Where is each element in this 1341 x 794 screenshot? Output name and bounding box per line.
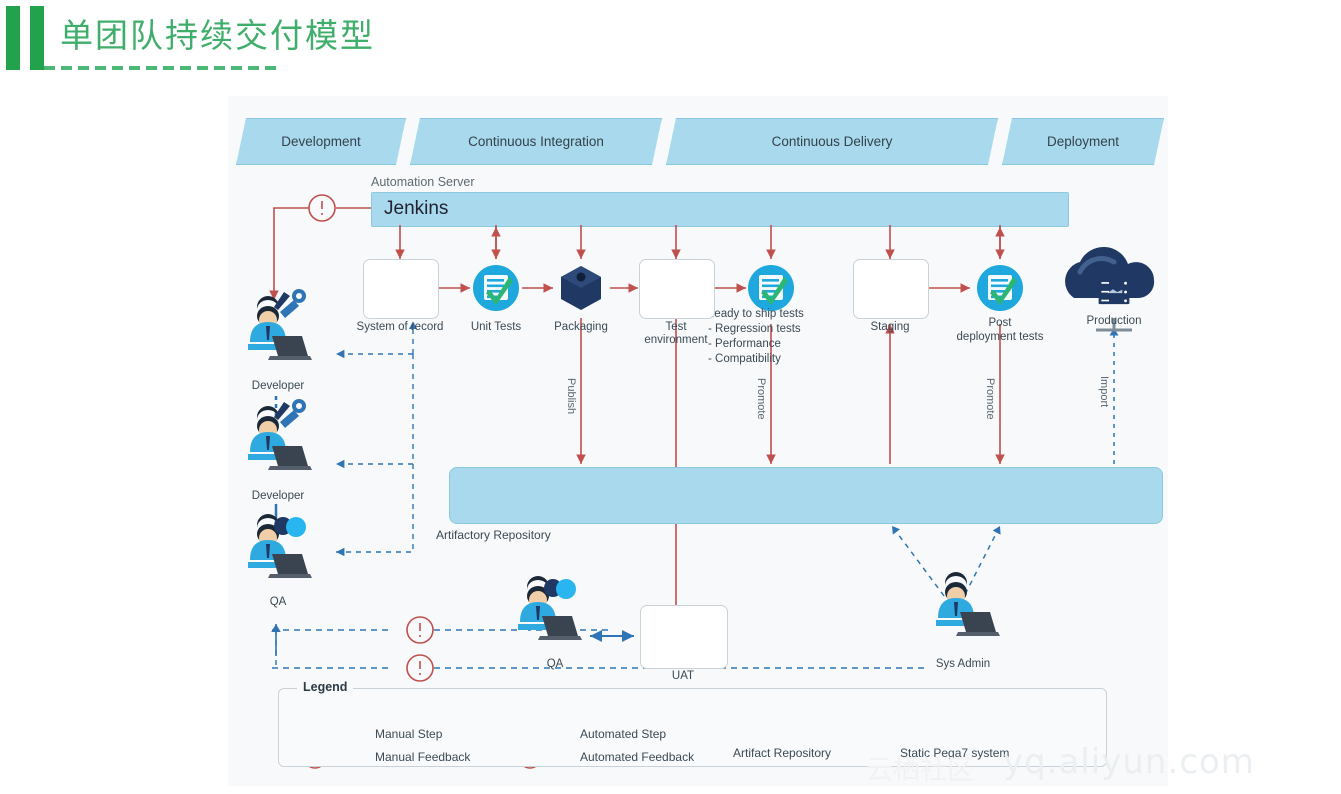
label-import: Import [1098, 376, 1110, 407]
label-performance: - Performance [708, 338, 838, 351]
label-packaging: Packaging [541, 321, 621, 334]
jenkins-label: Jenkins [384, 198, 448, 220]
pipeline-diagram: Development Continuous Integration Conti… [228, 96, 1168, 786]
label-qa-bottom: QA [520, 658, 590, 670]
server-frame-staging [853, 259, 929, 319]
phase-continuous-integration: Continuous Integration [410, 118, 662, 165]
label-publish: Publish [565, 378, 577, 414]
label-promote-2: Promote [984, 378, 996, 420]
watermark-cn: 云栖社区 [866, 748, 974, 787]
legend-label-manual-feedback: Manual Feedback [375, 750, 470, 764]
label-test-environment-line1: Test [636, 321, 716, 334]
artifactory-repository-bar [449, 467, 1163, 524]
label-staging: Staging [850, 321, 930, 334]
label-regression-tests: - Regression tests [708, 323, 838, 336]
phase-deployment: Deployment [1002, 118, 1164, 165]
phase-label: Deployment [1047, 134, 1119, 149]
label-uat: UAT [640, 670, 726, 682]
server-frame-test-environment [639, 259, 715, 319]
label-developer-2: Developer [238, 490, 318, 502]
phase-label: Continuous Delivery [772, 134, 893, 149]
legend-label-manual-step: Manual Step [375, 727, 442, 741]
automation-server-caption: Automation Server [371, 175, 475, 189]
phase-label: Development [281, 134, 361, 149]
label-ready-to-ship-tests: Ready to ship tests [706, 308, 836, 321]
legend-label-automated-step: Automated Step [580, 727, 666, 741]
label-system-of-record: System of record [350, 321, 450, 334]
accent-bar-right [30, 6, 44, 70]
title-underline [44, 66, 280, 70]
watermark-url: yq.aliyun.com [1003, 742, 1255, 782]
legend-label-artifact-repository: Artifact Repository [733, 746, 831, 760]
label-promote-1: Promote [755, 378, 767, 420]
label-post-line1: Post [960, 317, 1040, 330]
accent-bar-left [6, 6, 20, 70]
uat-box [640, 605, 728, 669]
label-compatibility: - Compatibility [708, 353, 838, 366]
label-unit-tests: Unit Tests [456, 321, 536, 334]
label-sys-admin: Sys Admin [918, 658, 1008, 670]
label-developer-1: Developer [238, 380, 318, 392]
legend-label-automated-feedback: Automated Feedback [580, 750, 694, 764]
phase-development: Development [236, 118, 406, 165]
label-artifactory-repository: Artifactory Repository [436, 528, 551, 542]
page-header: 单团队持续交付模型 [0, 0, 1341, 92]
label-production: Production [1074, 315, 1154, 328]
page-title: 单团队持续交付模型 [60, 9, 375, 57]
label-post-line2: deployment tests [930, 331, 1070, 344]
phase-continuous-delivery: Continuous Delivery [666, 118, 998, 165]
phase-label: Continuous Integration [468, 134, 604, 149]
server-frame-system-of-record [363, 259, 439, 319]
legend-title: Legend [297, 680, 353, 694]
label-qa-left: QA [238, 596, 318, 608]
jenkins-bar: Jenkins [371, 192, 1069, 227]
